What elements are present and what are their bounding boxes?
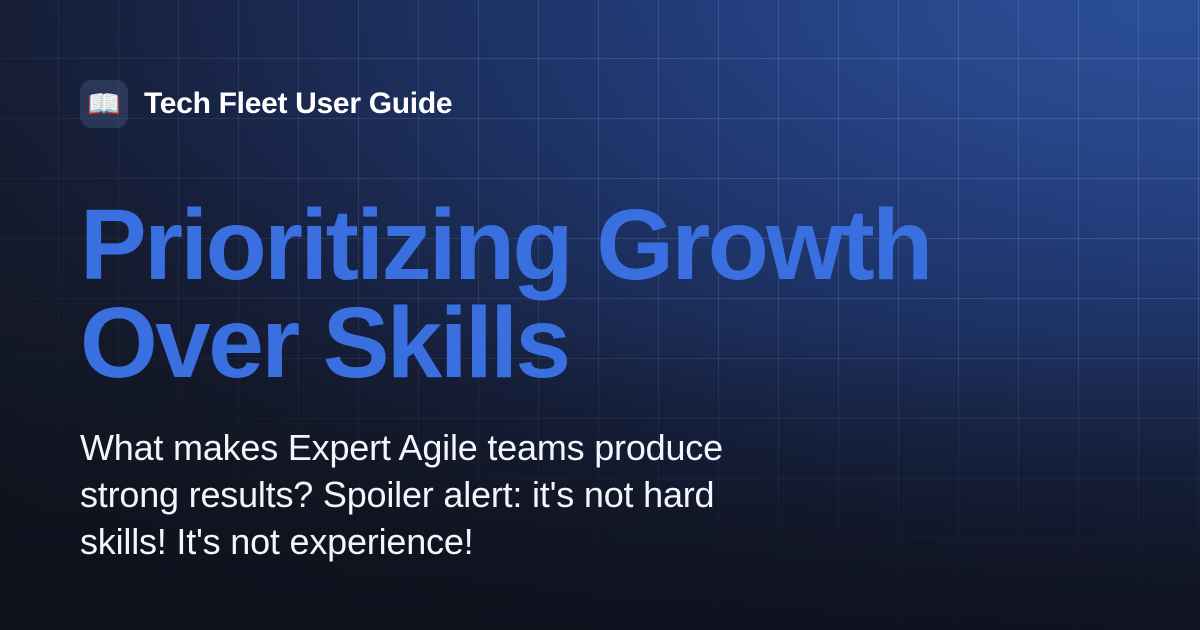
open-book-icon: 📖 — [80, 80, 128, 128]
page-title-line-1: Prioritizing Growth — [80, 189, 931, 301]
brand-title: Tech Fleet User Guide — [144, 87, 452, 121]
page-title: Prioritizing Growth Over Skills — [80, 196, 980, 392]
page-subtitle: What makes Expert Agile teams produce st… — [80, 424, 800, 565]
page-title-line-2: Over Skills — [80, 287, 568, 399]
brand-row: 📖 Tech Fleet User Guide — [80, 80, 1120, 128]
card-content: 📖 Tech Fleet User Guide Prioritizing Gro… — [0, 0, 1200, 630]
page-subtitle-text: What makes Expert Agile teams produce st… — [80, 427, 723, 562]
social-share-card: 📖 Tech Fleet User Guide Prioritizing Gro… — [0, 0, 1200, 630]
